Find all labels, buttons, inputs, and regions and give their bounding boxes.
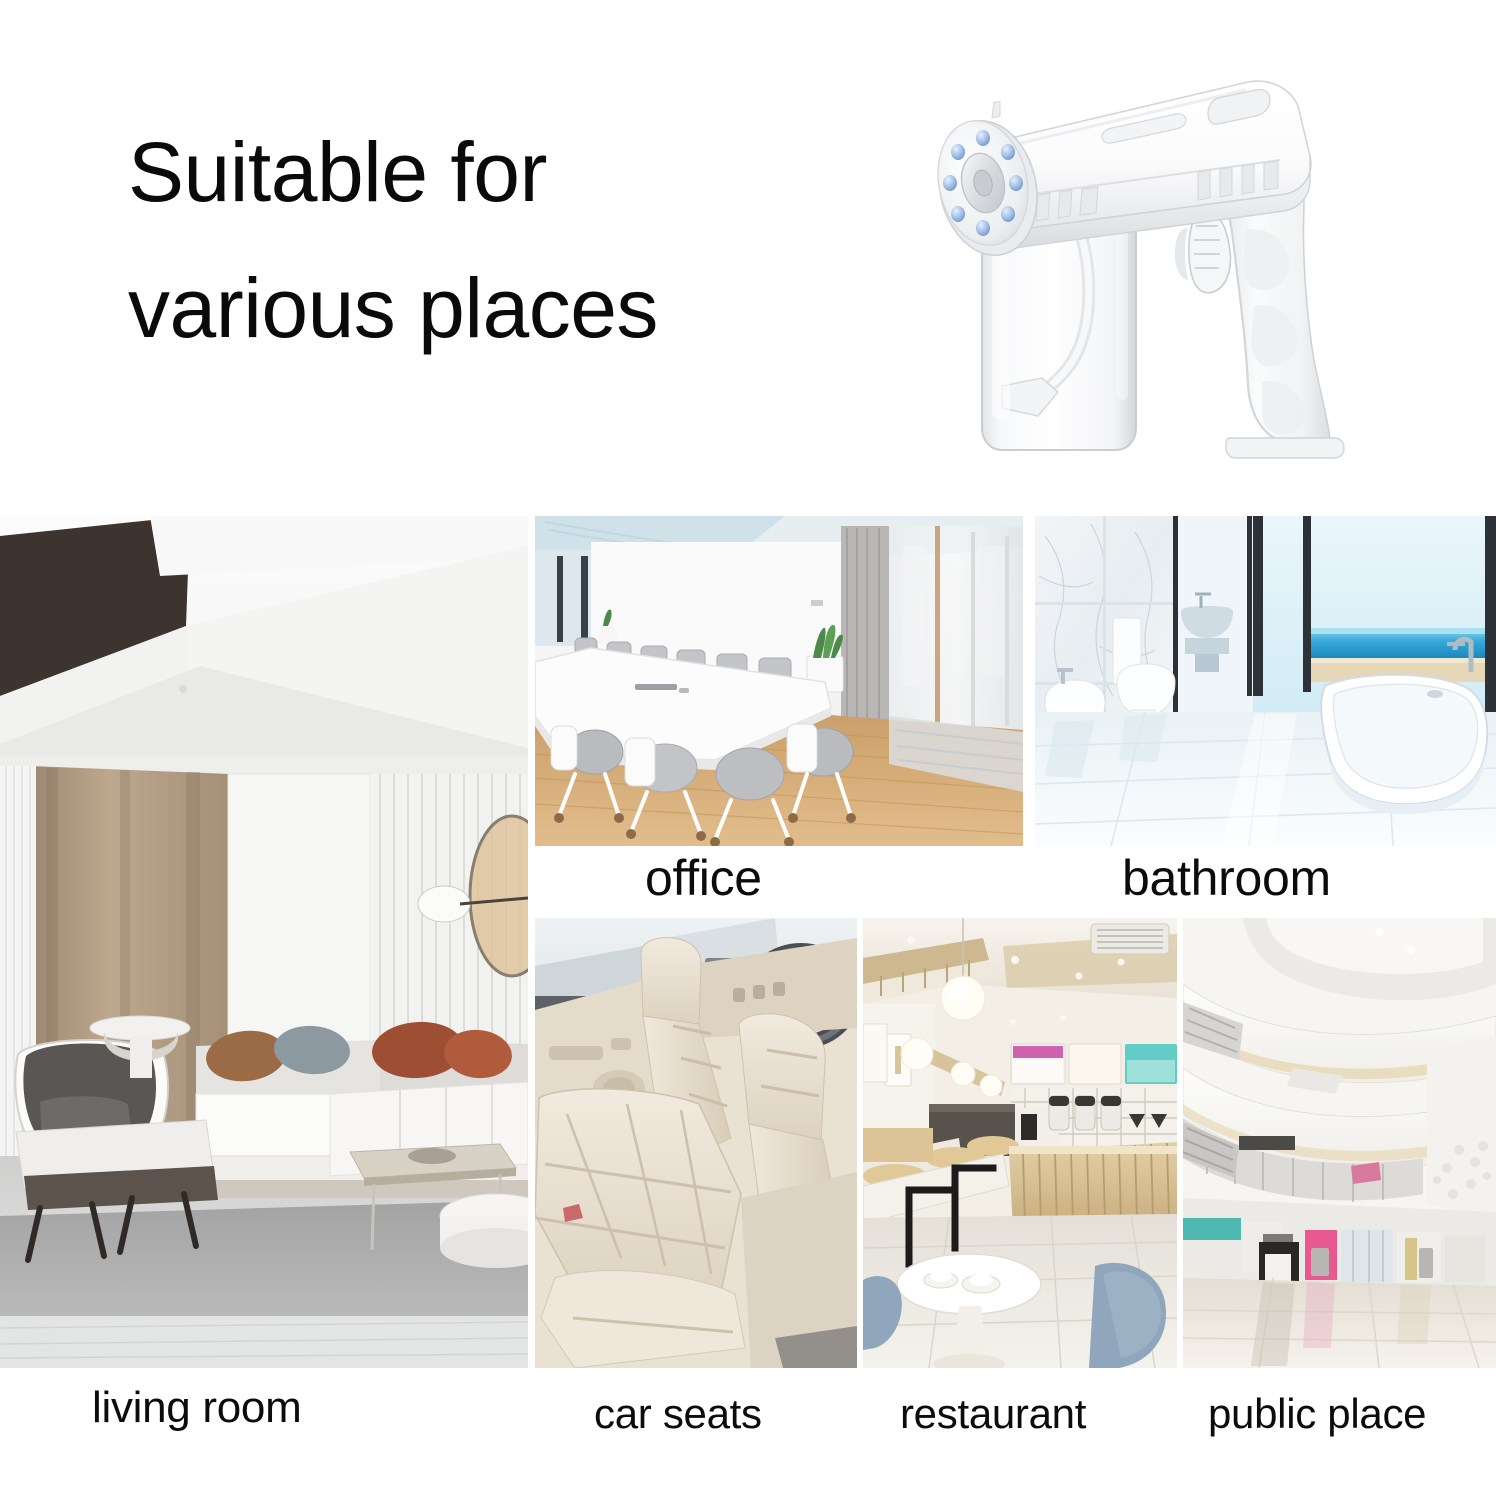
caption-bathroom: bathroom [1122, 849, 1331, 907]
photo-public-place [1183, 918, 1496, 1368]
photo-car-seats [535, 918, 857, 1368]
caption-office: office [645, 849, 762, 907]
photo-restaurant [863, 918, 1177, 1368]
product-image-spray-gun [930, 40, 1380, 490]
caption-car-seats: car seats [594, 1390, 762, 1438]
caption-restaurant: restaurant [900, 1390, 1086, 1438]
caption-public-place: public place [1208, 1390, 1426, 1438]
photo-office [535, 516, 1023, 846]
photo-bathroom [1035, 516, 1496, 846]
photo-living-room [0, 516, 528, 1368]
caption-living-room: living room [92, 1383, 301, 1433]
page-headline: Suitable for various places [128, 104, 888, 376]
